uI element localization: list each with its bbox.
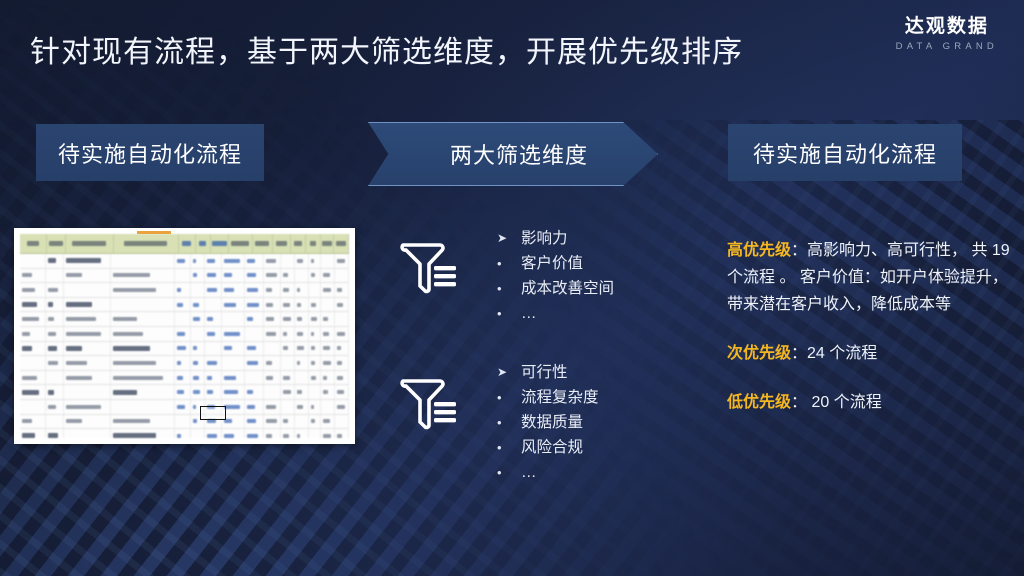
slide-canvas: 针对现有流程，基于两大筛选维度，开展优先级排序 达观数据 DATA GRAND … xyxy=(0,0,1024,576)
arrow-bullet-icon: ➤ xyxy=(497,226,521,251)
spreadsheet-cell xyxy=(205,327,222,341)
spreadsheet-cell xyxy=(264,342,281,356)
bullet-feasibility-label: … xyxy=(521,460,537,485)
spreadsheet-cell xyxy=(335,254,349,268)
priority-description: ： 20 个流程 xyxy=(791,394,882,411)
arrow-bullet-icon: ➤ xyxy=(497,360,521,385)
spreadsheet-cell xyxy=(222,254,245,268)
spreadsheet-cell xyxy=(295,400,309,414)
spreadsheet-cell xyxy=(222,298,245,312)
spreadsheet-cell xyxy=(20,356,46,370)
spreadsheet-cell xyxy=(46,254,63,268)
spreadsheet-cell xyxy=(222,356,245,370)
spreadsheet-cell xyxy=(264,415,281,429)
spreadsheet-cell xyxy=(64,298,111,312)
spreadsheet-header-cell xyxy=(291,234,306,253)
spreadsheet-cell xyxy=(205,429,222,438)
filter-funnel-icon-feasibility xyxy=(398,372,462,441)
priority-block: 高优先级：高影响力、高可行性， 共 19 个流程 。 客户价值：如开户体验提升，… xyxy=(727,237,1012,318)
spreadsheet-cell xyxy=(321,254,335,268)
spreadsheet-cell xyxy=(46,298,63,312)
spreadsheet-cell xyxy=(20,269,46,283)
spreadsheet-cell xyxy=(295,371,309,385)
bullet-feasibility-item: •流程复杂度 xyxy=(497,385,599,410)
bullet-feasibility-item: •… xyxy=(497,460,599,485)
spreadsheet-cell xyxy=(111,342,175,356)
spreadsheet-cell xyxy=(46,312,63,326)
spreadsheet-cell xyxy=(309,298,321,312)
priority-block: 低优先级： 20 个流程 xyxy=(727,389,1012,416)
spreadsheet-cell xyxy=(191,371,205,385)
spreadsheet-row xyxy=(20,283,349,298)
spreadsheet-cell xyxy=(309,385,321,399)
spreadsheet-cell xyxy=(335,312,349,326)
spreadsheet-cell xyxy=(245,356,264,370)
spreadsheet-cell xyxy=(64,400,111,414)
spreadsheet-cell xyxy=(335,415,349,429)
spreadsheet-header-cell xyxy=(229,234,253,253)
bullet-list-impact: ➤影响力•客户价值•成本改善空间•… xyxy=(497,226,614,326)
spreadsheet-cell xyxy=(111,356,175,370)
spreadsheet-cell xyxy=(245,283,264,297)
logo-chinese-text: 达观数据 xyxy=(896,16,998,38)
spreadsheet-cell xyxy=(264,283,281,297)
spreadsheet-cell xyxy=(46,400,63,414)
spreadsheet-cell xyxy=(20,400,46,414)
spreadsheet-cell xyxy=(111,400,175,414)
spreadsheet-cell xyxy=(281,356,295,370)
spreadsheet-cell xyxy=(309,283,321,297)
spreadsheet-cell xyxy=(46,429,63,438)
spreadsheet-row xyxy=(20,254,349,269)
banner-two-filter-dimensions: 两大筛选维度 xyxy=(368,122,658,186)
spreadsheet-cell xyxy=(309,327,321,341)
spreadsheet-cell xyxy=(111,254,175,268)
spreadsheet-row xyxy=(20,342,349,357)
spreadsheet-cell xyxy=(205,385,222,399)
bullet-feasibility-label: 可行性 xyxy=(521,360,568,385)
spreadsheet-cell xyxy=(20,371,46,385)
priority-level-label: 次优先级 xyxy=(727,345,791,362)
spreadsheet-cell xyxy=(191,429,205,438)
bullet-feasibility-item: •风险合规 xyxy=(497,435,599,460)
spreadsheet-cell xyxy=(281,385,295,399)
spreadsheet-cell xyxy=(335,385,349,399)
spreadsheet-cell xyxy=(20,312,46,326)
spreadsheet-cell xyxy=(205,298,222,312)
spreadsheet-cell xyxy=(335,356,349,370)
spreadsheet-cell xyxy=(205,254,222,268)
spreadsheet-cell xyxy=(309,400,321,414)
spreadsheet-cell xyxy=(175,327,191,341)
bullet-impact-item: •客户价值 xyxy=(497,251,614,276)
spreadsheet-cell xyxy=(281,312,295,326)
brand-logo: 达观数据 DATA GRAND xyxy=(896,16,998,54)
spreadsheet-cell xyxy=(281,415,295,429)
spreadsheet-cell xyxy=(222,429,245,438)
spreadsheet-cell xyxy=(20,298,46,312)
spreadsheet-cell xyxy=(111,415,175,429)
spreadsheet-cell xyxy=(205,342,222,356)
spreadsheet-cell xyxy=(175,254,191,268)
spreadsheet-cell xyxy=(191,385,205,399)
spreadsheet-cell xyxy=(191,312,205,326)
spreadsheet-cell xyxy=(321,400,335,414)
spreadsheet-cell xyxy=(175,298,191,312)
spreadsheet-row xyxy=(20,327,349,342)
spreadsheet-cell xyxy=(64,415,111,429)
spreadsheet-header-cell xyxy=(179,234,196,253)
spreadsheet-cell xyxy=(245,342,264,356)
banner-left-label: 待实施自动化流程 xyxy=(58,137,242,169)
spreadsheet-cell xyxy=(20,254,46,268)
spreadsheet-cell xyxy=(175,371,191,385)
priority-level-label: 低优先级 xyxy=(727,394,791,411)
spreadsheet-cell xyxy=(46,327,63,341)
spreadsheet-row xyxy=(20,429,349,438)
bullet-impact-label: 影响力 xyxy=(521,226,568,251)
spreadsheet-cell xyxy=(281,371,295,385)
spreadsheet-cell xyxy=(295,429,309,438)
spreadsheet-cell xyxy=(175,385,191,399)
spreadsheet-cell xyxy=(245,327,264,341)
spreadsheet-cell xyxy=(245,385,264,399)
spreadsheet-cell xyxy=(321,371,335,385)
spreadsheet-cell xyxy=(111,298,175,312)
spreadsheet-cell xyxy=(309,371,321,385)
spreadsheet-cell xyxy=(264,327,281,341)
spreadsheet-cell xyxy=(20,429,46,438)
spreadsheet-cell xyxy=(111,385,175,399)
spreadsheet-cell xyxy=(321,385,335,399)
spreadsheet-grid xyxy=(20,234,349,438)
spreadsheet-row xyxy=(20,269,349,284)
spreadsheet-cell xyxy=(295,283,309,297)
spreadsheet-cell xyxy=(46,415,63,429)
spreadsheet-cell xyxy=(281,283,295,297)
spreadsheet-cell xyxy=(205,312,222,326)
bullet-feasibility-label: 风险合规 xyxy=(521,435,583,460)
spreadsheet-cell xyxy=(321,283,335,297)
spreadsheet-cell xyxy=(321,342,335,356)
spreadsheet-cell xyxy=(309,312,321,326)
spreadsheet-header-cell xyxy=(66,234,114,253)
spreadsheet-cell xyxy=(222,371,245,385)
spreadsheet-cell xyxy=(245,312,264,326)
spreadsheet-cell xyxy=(281,342,295,356)
spreadsheet-cell xyxy=(222,312,245,326)
spreadsheet-cell xyxy=(175,356,191,370)
spreadsheet-cell xyxy=(245,415,264,429)
spreadsheet-cell xyxy=(245,269,264,283)
spreadsheet-row xyxy=(20,312,349,327)
spreadsheet-cell xyxy=(264,385,281,399)
spreadsheet-cell xyxy=(46,283,63,297)
spreadsheet-cell xyxy=(46,269,63,283)
spreadsheet-cell xyxy=(64,327,111,341)
spreadsheet-cell xyxy=(295,356,309,370)
spreadsheet-cell xyxy=(64,371,111,385)
bullet-impact-label: … xyxy=(521,301,537,326)
spreadsheet-cell xyxy=(335,283,349,297)
spreadsheet-cell xyxy=(191,327,205,341)
spreadsheet-cell xyxy=(191,342,205,356)
spreadsheet-cell xyxy=(321,415,335,429)
spreadsheet-header-cell xyxy=(114,234,179,253)
spreadsheet-header-cell xyxy=(196,234,211,253)
spreadsheet-row xyxy=(20,400,349,415)
spreadsheet-cell xyxy=(205,269,222,283)
spreadsheet-cell xyxy=(281,400,295,414)
spreadsheet-cell xyxy=(264,312,281,326)
spreadsheet-cell xyxy=(321,298,335,312)
spreadsheet-cell xyxy=(309,269,321,283)
bullet-feasibility-item: •数据质量 xyxy=(497,410,599,435)
spreadsheet-cell xyxy=(64,356,111,370)
spreadsheet-cell xyxy=(264,371,281,385)
spreadsheet-cell xyxy=(205,371,222,385)
spreadsheet-cell xyxy=(191,269,205,283)
spreadsheet-cell xyxy=(64,283,111,297)
spreadsheet-cell xyxy=(222,385,245,399)
spreadsheet-cell xyxy=(111,283,175,297)
spreadsheet-cell xyxy=(64,429,111,438)
spreadsheet-cell xyxy=(46,385,63,399)
spreadsheet-cell xyxy=(20,327,46,341)
spreadsheet-row xyxy=(20,415,349,430)
bullet-impact-item: ➤影响力 xyxy=(497,226,614,251)
spreadsheet-cell xyxy=(111,371,175,385)
spreadsheet-header-cell xyxy=(20,234,47,253)
spreadsheet-cell xyxy=(64,312,111,326)
spreadsheet-cell xyxy=(175,342,191,356)
spreadsheet-cell xyxy=(335,342,349,356)
spreadsheet-screenshot xyxy=(14,228,355,444)
bullet-impact-item: •… xyxy=(497,301,614,326)
priority-block: 次优先级：24 个流程 xyxy=(727,340,1012,367)
spreadsheet-row xyxy=(20,385,349,400)
spreadsheet-cell xyxy=(295,342,309,356)
spreadsheet-cell xyxy=(245,400,264,414)
spreadsheet-cell xyxy=(309,356,321,370)
spreadsheet-header-cell xyxy=(334,234,349,253)
dot-bullet-icon: • xyxy=(497,276,521,301)
spreadsheet-cell xyxy=(191,298,205,312)
spreadsheet-header-row xyxy=(20,234,349,254)
spreadsheet-cell xyxy=(335,298,349,312)
spreadsheet-row xyxy=(20,298,349,313)
spreadsheet-cell xyxy=(335,429,349,438)
spreadsheet-header-cell xyxy=(273,234,291,253)
spreadsheet-cell xyxy=(175,283,191,297)
spreadsheet-cell xyxy=(205,356,222,370)
spreadsheet-cell xyxy=(205,283,222,297)
spreadsheet-cell xyxy=(245,298,264,312)
spreadsheet-cell xyxy=(175,269,191,283)
spreadsheet-cell xyxy=(20,385,46,399)
bullet-impact-label: 成本改善空间 xyxy=(521,276,614,301)
bullet-feasibility-label: 数据质量 xyxy=(521,410,583,435)
spreadsheet-cell xyxy=(281,429,295,438)
spreadsheet-cell xyxy=(321,269,335,283)
spreadsheet-header-cell xyxy=(47,234,65,253)
spreadsheet-cell xyxy=(264,400,281,414)
filter-funnel-icon-impact xyxy=(398,236,462,305)
spreadsheet-cell xyxy=(321,429,335,438)
spreadsheet-cell xyxy=(64,342,111,356)
spreadsheet-cell xyxy=(175,312,191,326)
dot-bullet-icon: • xyxy=(497,410,521,435)
spreadsheet-cell xyxy=(309,254,321,268)
spreadsheet-cell xyxy=(335,371,349,385)
spreadsheet-cell xyxy=(64,254,111,268)
spreadsheet-row xyxy=(20,371,349,386)
spreadsheet-cell xyxy=(46,371,63,385)
page-title: 针对现有流程，基于两大筛选维度，开展优先级排序 xyxy=(30,27,743,71)
spreadsheet-cell xyxy=(321,312,335,326)
spreadsheet-header-cell xyxy=(306,234,321,253)
spreadsheet-cell xyxy=(309,429,321,438)
logo-english-text: DATA GRAND xyxy=(896,40,998,54)
spreadsheet-cell xyxy=(321,327,335,341)
spreadsheet-cell xyxy=(309,342,321,356)
dot-bullet-icon: • xyxy=(497,435,521,460)
spreadsheet-cell xyxy=(335,327,349,341)
spreadsheet-cell xyxy=(20,342,46,356)
spreadsheet-cell xyxy=(264,429,281,438)
bullet-list-feasibility: ➤可行性•流程复杂度•数据质量•风险合规•… xyxy=(497,360,599,485)
dot-bullet-icon: • xyxy=(497,251,521,276)
spreadsheet-header-cell xyxy=(211,234,229,253)
spreadsheet-cell xyxy=(264,269,281,283)
spreadsheet-cell xyxy=(111,429,175,438)
spreadsheet-cell xyxy=(281,269,295,283)
bullet-feasibility-label: 流程复杂度 xyxy=(521,385,599,410)
spreadsheet-cell xyxy=(175,429,191,438)
spreadsheet-cell xyxy=(175,400,191,414)
spreadsheet-selected-cell xyxy=(200,406,226,420)
spreadsheet-row xyxy=(20,356,349,371)
banner-pending-processes-right: 待实施自动化流程 xyxy=(728,124,962,181)
dot-bullet-icon: • xyxy=(497,460,521,485)
priority-summary: 高优先级：高影响力、高可行性， 共 19 个流程 。 客户价值：如开户体验提升，… xyxy=(727,237,1012,416)
spreadsheet-cell xyxy=(281,254,295,268)
spreadsheet-cell xyxy=(191,254,205,268)
spreadsheet-cell xyxy=(309,415,321,429)
spreadsheet-cell xyxy=(295,298,309,312)
spreadsheet-cell xyxy=(295,269,309,283)
banner-middle-label: 两大筛选维度 xyxy=(450,138,588,170)
spreadsheet-header-cell xyxy=(253,234,273,253)
spreadsheet-cell xyxy=(111,269,175,283)
spreadsheet-cell xyxy=(64,269,111,283)
spreadsheet-cell xyxy=(111,327,175,341)
dot-bullet-icon: • xyxy=(497,301,521,326)
spreadsheet-cell xyxy=(264,298,281,312)
spreadsheet-header-cell xyxy=(321,234,334,253)
spreadsheet-cell xyxy=(295,415,309,429)
spreadsheet-cell xyxy=(191,283,205,297)
bullet-feasibility-item: ➤可行性 xyxy=(497,360,599,385)
spreadsheet-cell xyxy=(264,254,281,268)
priority-description: ：24 个流程 xyxy=(791,345,877,362)
bullet-impact-item: •成本改善空间 xyxy=(497,276,614,301)
spreadsheet-cell xyxy=(222,342,245,356)
spreadsheet-cell xyxy=(264,356,281,370)
spreadsheet-cell xyxy=(245,429,264,438)
spreadsheet-cell xyxy=(222,327,245,341)
banner-right-label: 待实施自动化流程 xyxy=(753,137,937,169)
spreadsheet-cell xyxy=(295,327,309,341)
spreadsheet-cell xyxy=(46,356,63,370)
spreadsheet-cell xyxy=(111,312,175,326)
spreadsheet-highlight-tab xyxy=(137,231,171,234)
spreadsheet-cell xyxy=(335,400,349,414)
bullet-impact-label: 客户价值 xyxy=(521,251,583,276)
spreadsheet-cell xyxy=(175,415,191,429)
banner-pending-processes-left: 待实施自动化流程 xyxy=(36,124,264,181)
spreadsheet-cell xyxy=(191,356,205,370)
spreadsheet-cell xyxy=(222,283,245,297)
priority-level-label: 高优先级 xyxy=(727,242,791,259)
spreadsheet-cell xyxy=(295,312,309,326)
spreadsheet-cell xyxy=(335,269,349,283)
spreadsheet-cell xyxy=(20,283,46,297)
spreadsheet-cell xyxy=(321,356,335,370)
spreadsheet-cell xyxy=(245,254,264,268)
spreadsheet-cell xyxy=(281,327,295,341)
spreadsheet-cell xyxy=(245,371,264,385)
spreadsheet-cell xyxy=(64,385,111,399)
dot-bullet-icon: • xyxy=(497,385,521,410)
spreadsheet-cell xyxy=(295,254,309,268)
spreadsheet-cell xyxy=(281,298,295,312)
spreadsheet-cell xyxy=(222,269,245,283)
spreadsheet-cell xyxy=(295,385,309,399)
spreadsheet-cell xyxy=(46,342,63,356)
spreadsheet-cell xyxy=(20,415,46,429)
